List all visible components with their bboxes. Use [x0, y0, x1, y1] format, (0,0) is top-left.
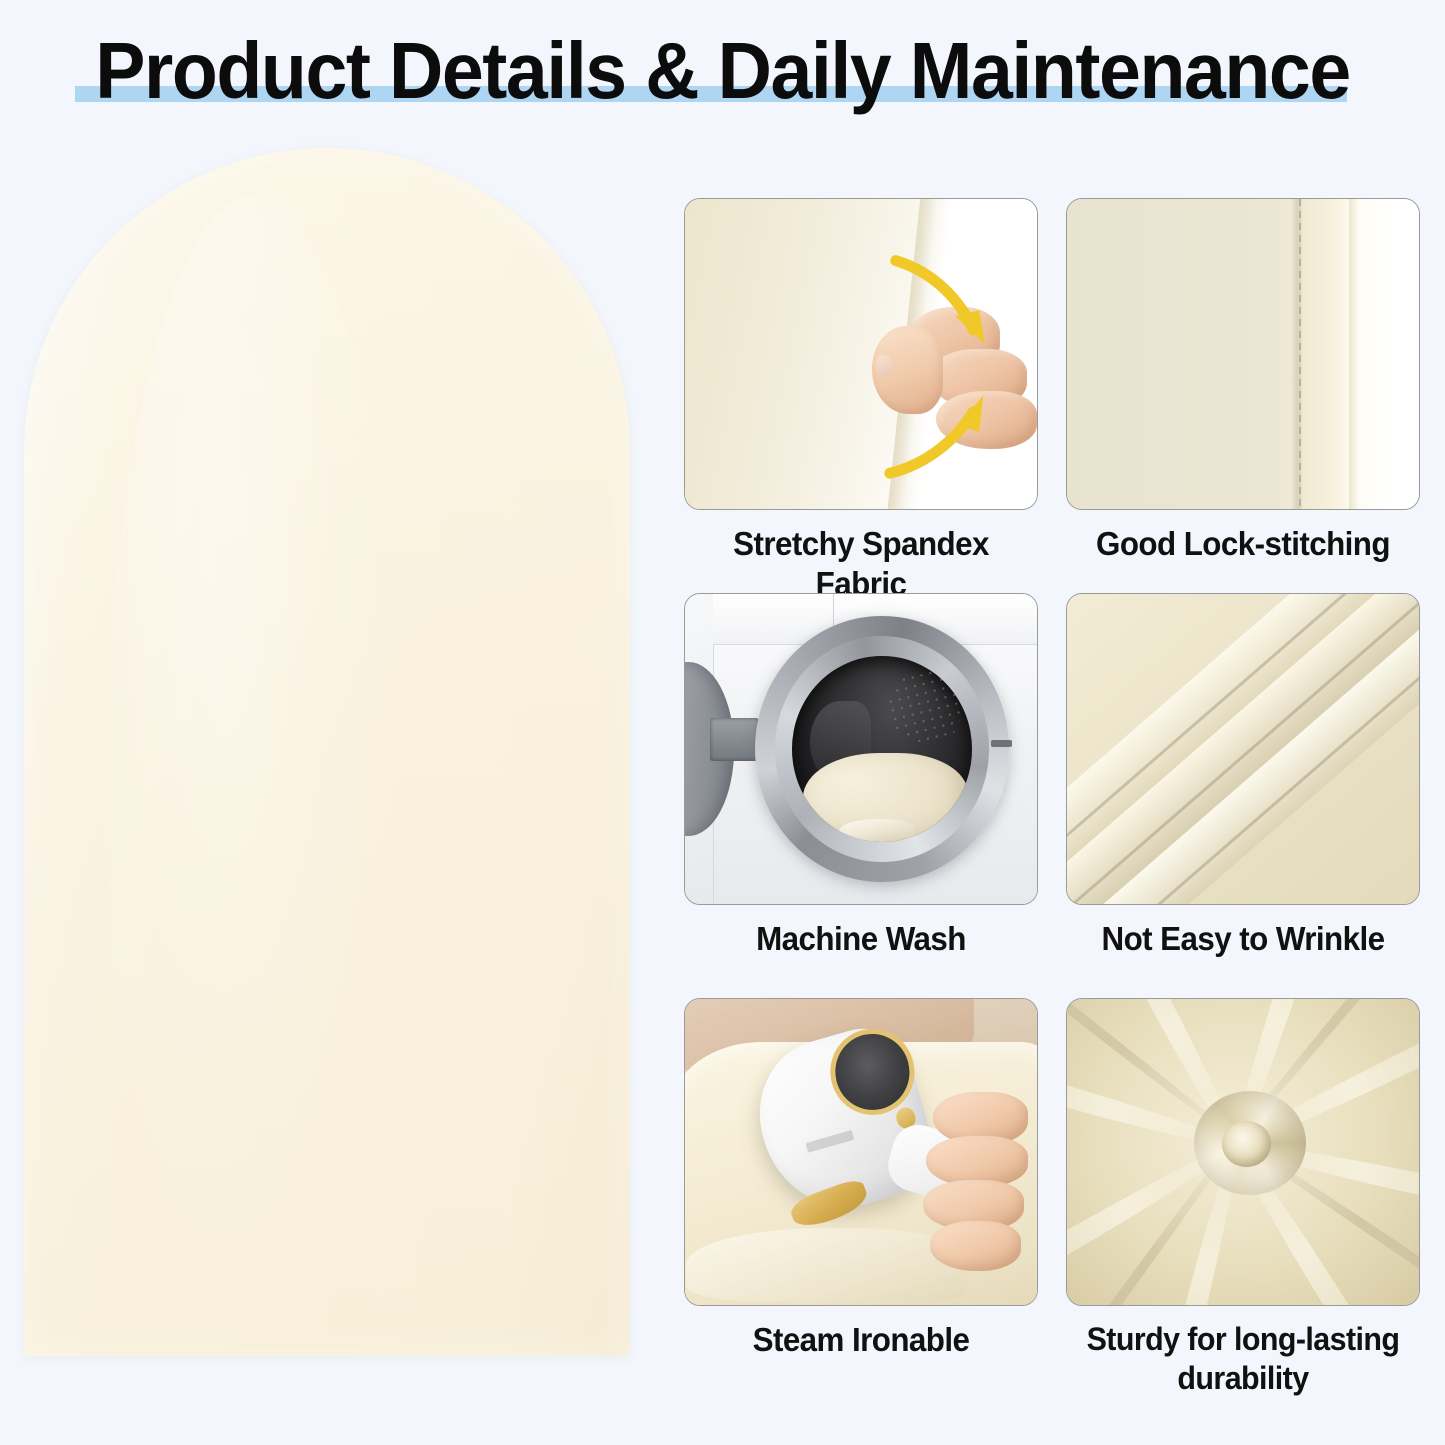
feature-image-sturdy-durability: [1066, 998, 1420, 1306]
page-title: Product Details & Daily Maintenance: [43, 28, 1401, 114]
stitch-line: [1299, 199, 1301, 509]
folded-fabric-icon: [1067, 594, 1419, 904]
feature-cell-sturdy-durability: Sturdy for long-lasting durability: [1066, 998, 1420, 1398]
hand-holding-steamer: [889, 1085, 1038, 1275]
hem-edge: [1349, 199, 1360, 509]
feature-cell-good-lock-stitching: Good Lock-stitching: [1066, 198, 1420, 564]
feature-image-good-lock-stitching: [1066, 198, 1420, 510]
finger-3: [936, 391, 1037, 449]
feature-caption: Sturdy for long-lasting durability: [1075, 1320, 1411, 1398]
steamer-brand-mark: [806, 1129, 856, 1152]
feature-image-not-easy-to-wrinkle: [1066, 593, 1420, 905]
finger-4: [930, 1221, 1021, 1270]
feature-caption: Not Easy to Wrinkle: [1075, 919, 1411, 959]
hand: [879, 280, 1038, 472]
thumbnail: [876, 355, 892, 376]
feature-cell-steam-ironable: Steam Ironable: [684, 998, 1038, 1360]
washer-drum-cavity: [792, 656, 972, 842]
washer-door-hinge: [710, 718, 759, 761]
washing-machine-icon: [685, 594, 1037, 904]
product-arch-panel: [24, 148, 630, 1356]
feature-caption: Machine Wash: [693, 919, 1029, 959]
feature-image-stretchy-spandex-fabric: [684, 198, 1038, 510]
feature-cell-stretchy-spandex-fabric: Stretchy Spandex Fabric: [684, 198, 1038, 604]
thumb: [872, 326, 943, 414]
laundry-fold: [839, 819, 915, 843]
feature-image-machine-wash: [684, 593, 1038, 905]
feature-caption: Steam Ironable: [693, 1320, 1029, 1360]
laundry-fabric: [803, 753, 968, 842]
feature-caption: Stretchy Spandex Fabric: [693, 524, 1029, 604]
feature-image-steam-ironable: [684, 998, 1038, 1306]
seam-stitch-icon: [1067, 199, 1419, 509]
infographic-page: Product Details & Daily Maintenance: [0, 0, 1445, 1445]
fabric-stretch-hand-icon: [685, 199, 1037, 509]
feature-grid: Stretchy Spandex Fabric Good Lock-stitch…: [684, 198, 1424, 1398]
swirled-fabric-icon: [1067, 999, 1419, 1305]
washer-door-latch: [991, 740, 1012, 748]
garment-steamer-icon: [685, 999, 1037, 1305]
title-block: Product Details & Daily Maintenance: [0, 20, 1445, 130]
feature-caption: Good Lock-stitching: [1075, 524, 1411, 564]
feature-cell-not-easy-to-wrinkle: Not Easy to Wrinkle: [1066, 593, 1420, 959]
feature-cell-machine-wash: Machine Wash: [684, 593, 1038, 959]
